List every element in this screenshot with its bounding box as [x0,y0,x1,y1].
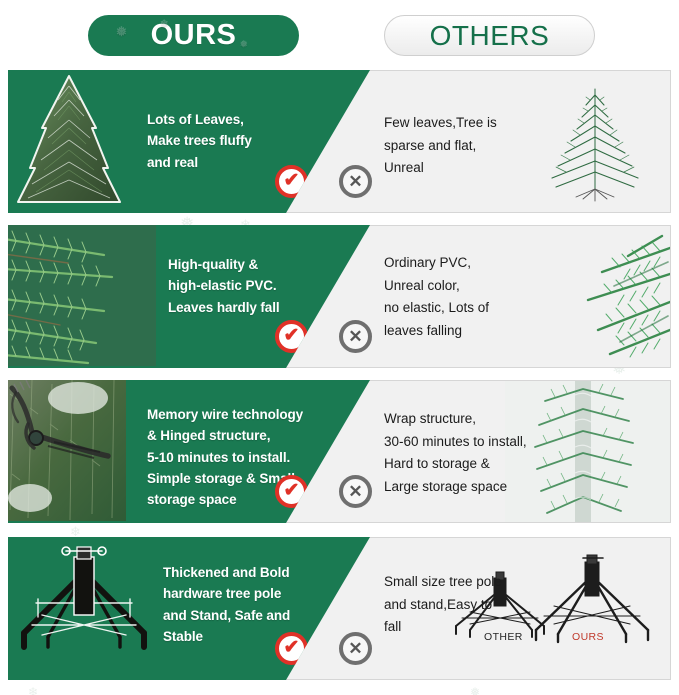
header: ❅ ❄ ❅ OURS OTHERS [0,0,679,70]
others-text-material: Ordinary PVC, Unreal color, no elastic, … [384,252,489,343]
comparison-row-assembly: Wrap structure, 30-60 minutes to install… [8,380,671,523]
others-text-assembly: Wrap structure, 30-60 minutes to install… [384,408,527,499]
ours-image-heavy-stand [8,537,160,680]
cross-mark-icon: ✕ [348,640,362,657]
comparison-row-material: Ordinary PVC, Unreal color, no elastic, … [8,225,671,368]
snowflake-watermark: ❄ [28,686,38,695]
cross-badge: ✕ [339,320,372,353]
comparison-infographic: ❅ ❄ ❅ ❄ ❅ ❄ ❅ ❄ ❅ ❄ ❅ OURS OTHERS [0,0,679,695]
check-mark-icon: ✔ [284,171,300,190]
others-image-sparse-tree [520,71,670,212]
snowflake-icon: ❅ [240,39,248,50]
others-text-leaves: Few leaves,Tree is sparse and flat, Unre… [384,112,497,180]
snowflake-icon: ❅ [116,24,127,40]
others-image-tinsel-branch [510,226,670,367]
others-text-stand: Small size tree pole and stand,Easy to f… [384,571,502,639]
ours-badge-button[interactable]: ❅ ❄ ❅ OURS [88,15,299,56]
stand-label-ours: OURS [572,631,604,643]
others-image-wrapped-branch [505,381,670,522]
check-mark-icon: ✔ [284,481,300,500]
ours-text-stand: Thickened and Bold hardware tree pole an… [163,562,290,647]
cross-badge: ✕ [339,475,372,508]
cross-mark-icon: ✕ [348,483,362,500]
others-label: OTHERS [430,20,550,52]
snowflake-watermark: ❅ [470,686,480,695]
cross-badge: ✕ [339,165,372,198]
ours-image-hinge-mechanism [8,380,126,523]
cross-mark-icon: ✕ [348,173,362,190]
comparison-row-stand: OTHER OURS Small size tree pole and stan… [8,537,671,680]
ours-image-pvc-branch [8,225,156,368]
ours-image-dense-tree [8,70,130,213]
comparison-row-leaves: Few leaves,Tree is sparse and flat, Unre… [8,70,671,213]
check-mark-icon: ✔ [284,326,300,345]
cross-badge: ✕ [339,632,372,665]
ours-text-material: High-quality & high-elastic PVC. Leaves … [168,254,280,318]
check-mark-icon: ✔ [284,638,300,657]
ours-text-leaves: Lots of Leaves, Make trees fluffy and re… [147,109,252,173]
snowflake-icon: ❄ [160,19,169,30]
others-badge-button[interactable]: OTHERS [384,15,595,56]
cross-mark-icon: ✕ [348,328,362,345]
